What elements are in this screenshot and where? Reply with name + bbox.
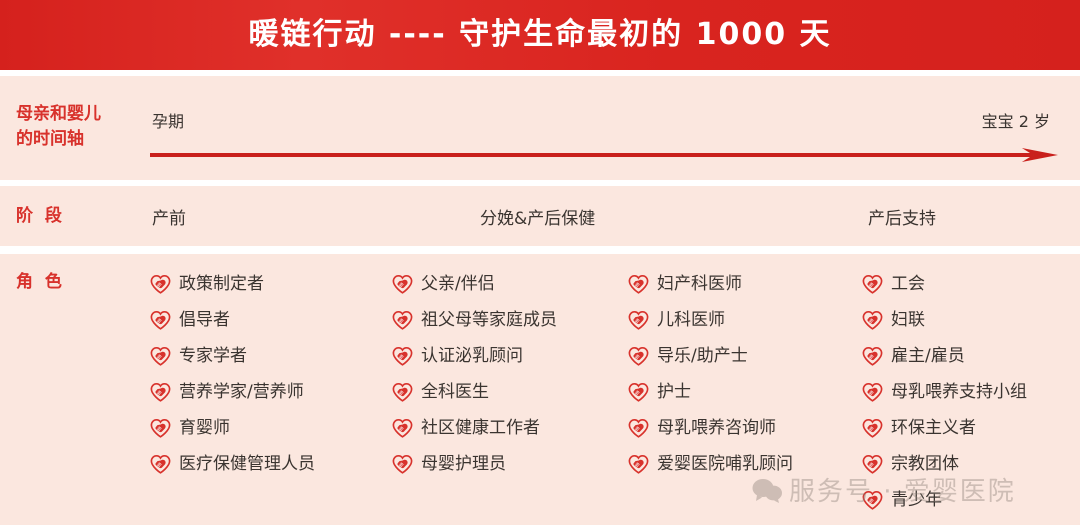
heart-hand-icon	[392, 418, 413, 439]
stage-item: 产前	[152, 204, 186, 229]
role-item: 父亲/伴侣	[392, 266, 557, 302]
role-label: 倡导者	[179, 312, 230, 329]
timeline-row-label: 母亲和婴儿 的时间轴	[16, 102, 146, 152]
role-label: 社区健康工作者	[421, 420, 540, 437]
poster-canvas: 暖链行动 ---- 守护生命最初的 1000 天 母亲和婴儿 的时间轴 孕期 宝…	[0, 0, 1080, 525]
heart-hand-icon	[862, 454, 883, 475]
role-label: 母乳喂养咨询师	[657, 420, 776, 437]
heart-hand-icon	[862, 382, 883, 403]
heart-hand-icon	[150, 418, 171, 439]
role-label: 政策制定者	[179, 276, 264, 293]
heart-hand-icon	[150, 346, 171, 367]
heart-hand-icon	[150, 382, 171, 403]
heart-hand-icon	[862, 274, 883, 295]
timeline-section: 母亲和婴儿 的时间轴 孕期 宝宝 2 岁	[0, 76, 1080, 180]
page-title: 暖链行动 ---- 守护生命最初的 1000 天	[248, 20, 831, 50]
stage-item: 产后支持	[868, 204, 936, 229]
stage-item: 分娩&产后保健	[480, 204, 595, 229]
heart-hand-icon	[628, 382, 649, 403]
stage-section: 阶 段 产前分娩&产后保健产后支持	[0, 186, 1080, 246]
heart-hand-icon	[628, 310, 649, 331]
role-item: 全科医生	[392, 374, 557, 410]
role-item: 育婴师	[150, 410, 315, 446]
role-label: 育婴师	[179, 420, 230, 437]
role-item: 护士	[628, 374, 793, 410]
role-item: 母婴护理员	[392, 446, 557, 482]
role-label: 父亲/伴侣	[421, 276, 495, 293]
role-item: 宗教团体	[862, 446, 1027, 482]
role-label: 护士	[657, 384, 691, 401]
role-label: 儿科医师	[657, 312, 725, 329]
heart-hand-icon	[392, 346, 413, 367]
heart-hand-icon	[862, 346, 883, 367]
heart-hand-icon	[392, 382, 413, 403]
role-item: 妇产科医师	[628, 266, 793, 302]
role-item: 专家学者	[150, 338, 315, 374]
heart-hand-icon	[628, 274, 649, 295]
role-item: 妇联	[862, 302, 1027, 338]
roles-column: 妇产科医师儿科医师导乐/助产士护士母乳喂养咨询师爱婴医院哺乳顾问	[628, 266, 793, 482]
role-item: 导乐/助产士	[628, 338, 793, 374]
heart-hand-icon	[392, 310, 413, 331]
role-label: 青少年	[891, 492, 942, 509]
timeline-track: 孕期 宝宝 2 岁	[150, 76, 1058, 180]
heart-hand-icon	[150, 274, 171, 295]
role-label: 工会	[891, 276, 925, 293]
role-item: 医疗保健管理人员	[150, 446, 315, 482]
role-item: 政策制定者	[150, 266, 315, 302]
role-item: 社区健康工作者	[392, 410, 557, 446]
role-label: 医疗保健管理人员	[179, 456, 315, 473]
heart-hand-icon	[150, 310, 171, 331]
heart-hand-icon	[628, 346, 649, 367]
heart-hand-icon	[862, 490, 883, 511]
role-label: 环保主义者	[891, 420, 976, 437]
role-label: 母婴护理员	[421, 456, 506, 473]
role-label: 妇联	[891, 312, 925, 329]
timeline-start-label: 孕期	[152, 108, 184, 132]
role-label: 导乐/助产士	[657, 348, 748, 365]
role-item: 青少年	[862, 482, 1027, 518]
roles-row-label: 角 色	[16, 270, 62, 295]
role-item: 倡导者	[150, 302, 315, 338]
role-label: 雇主/雇员	[891, 348, 965, 365]
roles-column: 政策制定者倡导者专家学者营养学家/营养师育婴师医疗保健管理人员	[150, 266, 315, 482]
arrow-right-icon	[150, 148, 1058, 162]
role-item: 认证泌乳顾问	[392, 338, 557, 374]
role-item: 环保主义者	[862, 410, 1027, 446]
role-label: 营养学家/营养师	[179, 384, 304, 401]
heart-hand-icon	[150, 454, 171, 475]
role-label: 爱婴医院哺乳顾问	[657, 456, 793, 473]
role-label: 专家学者	[179, 348, 247, 365]
role-item: 母乳喂养咨询师	[628, 410, 793, 446]
role-item: 雇主/雇员	[862, 338, 1027, 374]
role-label: 母乳喂养支持小组	[891, 384, 1027, 401]
role-label: 认证泌乳顾问	[421, 348, 523, 365]
heart-hand-icon	[392, 274, 413, 295]
timeline-end-label: 宝宝 2 岁	[982, 108, 1050, 132]
role-item: 营养学家/营养师	[150, 374, 315, 410]
role-item: 儿科医师	[628, 302, 793, 338]
stage-row-label: 阶 段	[16, 204, 62, 229]
role-item: 爱婴医院哺乳顾问	[628, 446, 793, 482]
header-banner: 暖链行动 ---- 守护生命最初的 1000 天	[0, 0, 1080, 70]
heart-hand-icon	[628, 418, 649, 439]
role-item: 祖父母等家庭成员	[392, 302, 557, 338]
heart-hand-icon	[862, 310, 883, 331]
role-label: 妇产科医师	[657, 276, 742, 293]
heart-hand-icon	[628, 454, 649, 475]
role-label: 祖父母等家庭成员	[421, 312, 557, 329]
role-item: 母乳喂养支持小组	[862, 374, 1027, 410]
roles-column: 工会妇联雇主/雇员母乳喂养支持小组环保主义者宗教团体青少年	[862, 266, 1027, 518]
role-item: 工会	[862, 266, 1027, 302]
heart-hand-icon	[862, 418, 883, 439]
roles-column: 父亲/伴侣祖父母等家庭成员认证泌乳顾问全科医生社区健康工作者母婴护理员	[392, 266, 557, 482]
heart-hand-icon	[392, 454, 413, 475]
roles-section: 角 色 政策制定者倡导者专家学者营养学家/营养师育婴师医疗保健管理人员父亲/伴侣…	[0, 254, 1080, 525]
role-label: 宗教团体	[891, 456, 959, 473]
role-label: 全科医生	[421, 384, 489, 401]
